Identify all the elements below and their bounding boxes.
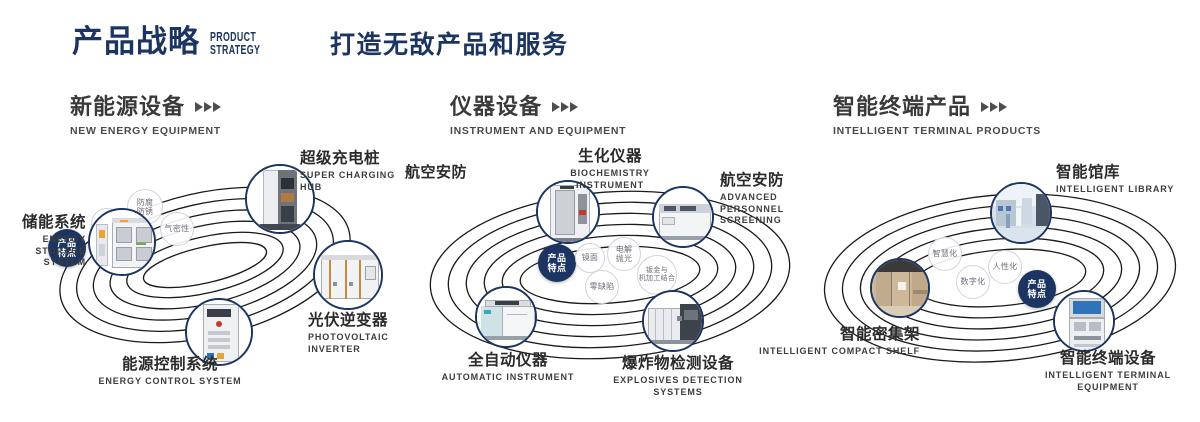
- feature-bubble: 气密性: [160, 212, 194, 246]
- cluster-intelligent-terminal: 产品 特点 智慧化 数字化 人性化: [800, 150, 1200, 400]
- feature-bubble: 数字化: [956, 265, 990, 299]
- page-title-en: PRODUCT STRATEGY: [210, 30, 260, 56]
- label-automatic-instrument: 全自动仪器 AUTOMATIC INSTRUMENT: [420, 352, 596, 384]
- core-line2: 特点: [547, 263, 566, 273]
- feature-line2: 机加工结合: [639, 275, 676, 283]
- label-biochemistry-instrument: 生化仪器 BIOCHEMISTRY INSTRUMENT: [550, 148, 670, 191]
- library-interior-photo: [992, 184, 1050, 242]
- label-explosives-detection: 爆炸物检测设备 EXPLOSIVES DETECTION SYSTEMS: [588, 355, 768, 398]
- feature-line1: 电解: [616, 245, 633, 254]
- label-energy-storage: 储能系统 ENERGY STORAGE SYSTEM: [0, 214, 86, 269]
- energy-storage-cabinet-photo: [90, 210, 154, 274]
- feature-line1: 镜面: [582, 253, 599, 262]
- compact-shelf-photo: [872, 260, 928, 316]
- section-title-cn: 仪器设备: [450, 96, 542, 118]
- node-label-en: ENERGY STORAGE SYSTEM: [0, 234, 86, 269]
- terminal-kiosk-photo: [1055, 292, 1113, 350]
- pv-inverter-photo: [315, 242, 381, 308]
- feature-line1: 钣金与: [646, 267, 668, 275]
- node-label-cn: 全自动仪器: [420, 352, 596, 370]
- feature-line1: 人性化: [993, 262, 1018, 271]
- feature-line2: 抛光: [616, 254, 633, 263]
- label-intelligent-library: 智能馆库 INTELLIGENT LIBRARY: [1056, 164, 1174, 196]
- section-header-new-energy: 新能源设备 NEW ENERGY EQUIPMENT: [70, 96, 221, 137]
- core-line1: 产品: [547, 253, 566, 263]
- label-terminal-equipment: 智能终端设备 INTELLIGENT TERMINAL EQUIPMENT: [1018, 350, 1198, 393]
- chevron-right-icon: [981, 102, 1007, 112]
- node-label-en: INTELLIGENT LIBRARY: [1056, 184, 1174, 196]
- chevron-right-icon: [552, 102, 578, 112]
- section-title-cn: 新能源设备: [70, 96, 185, 118]
- node-label-cn: 储能系统: [0, 214, 86, 232]
- section-title-en: NEW ENERGY EQUIPMENT: [70, 125, 221, 137]
- node-label-en: INTELLIGENT COMPACT SHELF: [740, 346, 920, 358]
- section-header-intelligent-terminal: 智能终端产品 INTELLIGENT TERMINAL PRODUCTS: [833, 96, 1041, 137]
- feature-bubble: 镜面: [575, 243, 605, 273]
- feature-bubble: 电解 抛光: [607, 237, 641, 271]
- node-label-en: EXPLOSIVES DETECTION SYSTEMS: [588, 375, 768, 398]
- node-label-en: INTELLIGENT TERMINAL EQUIPMENT: [1018, 370, 1198, 393]
- node-label-en: BIOCHEMISTRY INSTRUMENT: [550, 168, 670, 191]
- energy-control-cabinet-photo: [187, 300, 251, 364]
- explosives-detector-photo: [644, 292, 702, 350]
- node-pv-inverter[interactable]: [313, 240, 383, 310]
- section-header-instrument: 仪器设备 INSTRUMENT AND EQUIPMENT: [450, 96, 626, 137]
- feature-line1: 数字化: [961, 277, 986, 286]
- label-aviation-security-aside: 航空安防: [405, 164, 467, 181]
- node-label-cn: 生化仪器: [550, 148, 670, 166]
- node-energy-storage[interactable]: [88, 208, 156, 276]
- feature-line1: 智慧化: [933, 249, 958, 258]
- node-label-cn: 爆炸物检测设备: [588, 355, 768, 373]
- label-energy-control: 能源控制系统 ENERGY CONTROL SYSTEM: [80, 356, 260, 388]
- section-title-cn: 智能终端产品: [833, 96, 971, 118]
- node-explosives-detection[interactable]: [642, 290, 704, 352]
- node-automatic-instrument[interactable]: [475, 286, 537, 348]
- product-strategy-infographic: 产品战略 PRODUCT STRATEGY 打造无敌产品和服务 新能源设备 NE…: [0, 0, 1200, 422]
- page-title: 产品战略 PRODUCT STRATEGY: [72, 26, 284, 57]
- page-title-cn: 产品战略: [72, 26, 200, 57]
- page-subtitle: 打造无敌产品和服务: [330, 33, 569, 58]
- section-title-en: INSTRUMENT AND EQUIPMENT: [450, 125, 626, 137]
- core-badge: 产品 特点: [538, 244, 576, 282]
- cluster-new-energy: 产品 特点 户外 防腐 防锈 防水 防尘 气密性: [0, 150, 420, 400]
- label-compact-shelf: 智能密集架 INTELLIGENT COMPACT SHELF: [740, 326, 920, 358]
- core-badge: 产品 特点: [1018, 270, 1056, 308]
- core-line1: 产品: [1027, 279, 1046, 289]
- node-intelligent-library[interactable]: [990, 182, 1052, 244]
- feature-bubble: 智慧化: [928, 237, 962, 271]
- feature-line1: 气密性: [165, 224, 190, 233]
- node-label-cn: 智能终端设备: [1018, 350, 1198, 368]
- node-label-cn: 智能密集架: [740, 326, 920, 344]
- feature-bubble: 钣金与 机加工结合: [637, 255, 677, 295]
- node-compact-shelf[interactable]: [870, 258, 930, 318]
- screening-machine-photo: [654, 188, 712, 246]
- feature-line1: 零缺陷: [590, 282, 615, 291]
- cluster-instrument: 产品 特点 镜面 电解 抛光 零缺陷 钣金与 机加工结合: [400, 150, 820, 400]
- section-title-en: INTELLIGENT TERMINAL PRODUCTS: [833, 125, 1041, 137]
- node-personnel-screening[interactable]: [652, 186, 714, 248]
- node-terminal-equipment[interactable]: [1053, 290, 1115, 352]
- feature-bubble: 人性化: [988, 250, 1022, 284]
- automatic-instrument-photo: [477, 288, 535, 346]
- node-label-en: AUTOMATIC INSTRUMENT: [420, 372, 596, 384]
- chevron-right-icon: [195, 102, 221, 112]
- node-label-en: ENERGY CONTROL SYSTEM: [80, 376, 260, 388]
- aside-label-cn: 航空安防: [405, 164, 467, 181]
- node-label-cn: 智能馆库: [1056, 164, 1174, 182]
- core-line2: 特点: [1027, 289, 1046, 299]
- page-title-en-line2: STRATEGY: [210, 43, 260, 56]
- node-label-cn: 能源控制系统: [80, 356, 260, 374]
- feature-line1: 防腐: [137, 198, 154, 207]
- feature-bubble: 零缺陷: [585, 270, 619, 304]
